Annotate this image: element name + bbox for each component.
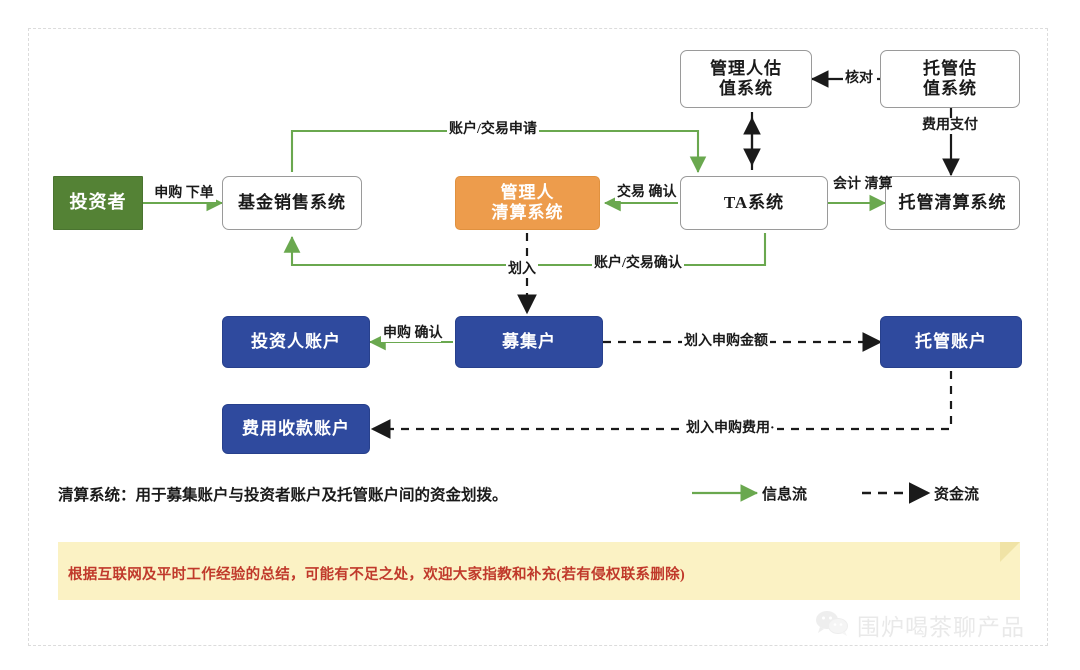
sticky-note-text: 根据互联网及平时工作经验的总结，可能有不足之处，欢迎大家指教和补充(若有侵权联系… xyxy=(68,563,685,584)
node-investor-account-label: 投资人账户 xyxy=(251,332,341,352)
node-manager-valuation-system[interactable]: 管理人估 值系统 xyxy=(680,50,812,108)
node-manager-clearing-system-label-1: 管理人 xyxy=(501,183,555,203)
legend-info-flow-label: 信息流 xyxy=(762,483,807,504)
edge-label-subscribe-order: 申购 下单 xyxy=(152,186,216,202)
node-collection-account[interactable]: 募集户 xyxy=(455,316,603,368)
node-custody-valuation-system[interactable]: 托管估 值系统 xyxy=(880,50,1020,108)
sticky-note-fold-icon xyxy=(1000,542,1020,562)
edge-label-subscribe-confirm-2: 确认 xyxy=(415,326,443,341)
node-ta-system-label: TA系统 xyxy=(724,193,784,213)
node-investor-account[interactable]: 投资人账户 xyxy=(222,316,370,368)
edge-label-subscribe-order-2: 下单 xyxy=(186,186,214,201)
legend-fund-flow-label: 资金流 xyxy=(934,483,979,504)
edge-label-transfer-in: 划入 xyxy=(506,262,538,278)
node-custody-valuation-system-label-2: 值系统 xyxy=(923,79,977,99)
edge-label-transfer-subscription-amount: 划入申购金额 xyxy=(682,334,770,350)
edge-label-accounting-clearing-2: 清算 xyxy=(865,177,893,192)
edge-label-subscribe-confirm-1: 申购 xyxy=(383,326,411,341)
edge-label-fee-payment: 费用支付 xyxy=(920,118,980,134)
edge-label-accounting-clearing-1: 会计 xyxy=(833,177,861,192)
edge-label-trade-confirm-1: 交易 xyxy=(617,185,645,200)
node-manager-valuation-system-label-1: 管理人估 xyxy=(710,59,782,79)
footnote-text: 清算系统：用于募集账户与投资者账户及托管账户间的资金划拨。 xyxy=(58,483,508,505)
edge-label-account-trade-request: 账户/交易申请 xyxy=(447,122,539,138)
node-fee-account-label: 费用收款账户 xyxy=(242,419,350,439)
edge-label-transfer-subscription-fee: 划入申购费用· xyxy=(684,421,777,437)
edge-label-subscribe-confirm: 申购 确认 xyxy=(381,326,441,342)
edge-label-trade-confirm: 交易 确认 xyxy=(615,185,677,201)
node-ta-system[interactable]: TA系统 xyxy=(680,176,828,230)
node-custody-account[interactable]: 托管账户 xyxy=(880,316,1022,368)
node-fund-sales-system[interactable]: 基金销售系统 xyxy=(222,176,362,230)
node-investor[interactable]: 投资者 xyxy=(53,176,143,230)
edge-label-accounting-clearing: 会计 清算 xyxy=(831,177,881,193)
edge-label-trade-confirm-2: 确认 xyxy=(649,185,677,200)
edge-label-account-trade-confirm: 账户/交易确认 xyxy=(592,256,684,272)
node-manager-clearing-system[interactable]: 管理人 清算系统 xyxy=(455,176,600,230)
node-collection-account-label: 募集户 xyxy=(502,332,556,352)
node-custody-account-label: 托管账户 xyxy=(915,332,987,352)
node-manager-valuation-system-label-2: 值系统 xyxy=(719,79,773,99)
watermark-text: 围炉喝茶聊产品 xyxy=(857,608,1025,642)
node-fund-sales-system-label: 基金销售系统 xyxy=(238,193,346,213)
diagram-canvas: 投资者 基金销售系统 管理人 清算系统 TA系统 管理人估 值系统 托管估 值系… xyxy=(0,0,1080,670)
edge-label-reconcile: 核对 xyxy=(843,71,875,87)
node-custody-clearing-system[interactable]: 托管清算系统 xyxy=(885,176,1020,230)
node-fee-account[interactable]: 费用收款账户 xyxy=(222,404,370,454)
node-custody-valuation-system-label-1: 托管估 xyxy=(923,59,977,79)
wechat-icon xyxy=(815,609,849,642)
node-manager-clearing-system-label-2: 清算系统 xyxy=(492,203,564,223)
node-custody-clearing-system-label: 托管清算系统 xyxy=(899,193,1007,213)
edge-label-subscribe-order-1: 申购 xyxy=(154,186,182,201)
node-investor-label: 投资者 xyxy=(70,192,127,213)
watermark: 围炉喝茶聊产品 xyxy=(815,608,1025,642)
